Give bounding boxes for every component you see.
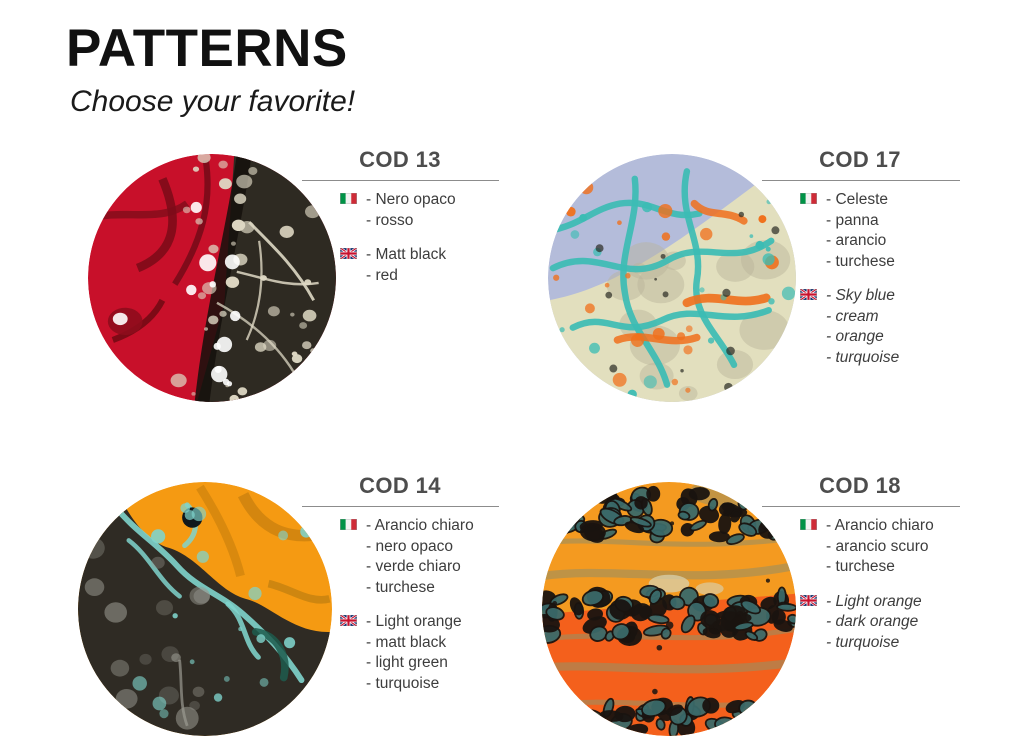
- flag-uk-icon: [800, 595, 817, 606]
- pattern-disc-cod-17[interactable]: [548, 154, 796, 402]
- color-list-english: - Matt black- red: [340, 245, 515, 286]
- color-list-italian: - Arancio chiaro- nero opaco- verde chia…: [340, 516, 515, 598]
- pattern-disc-cod-14[interactable]: [78, 482, 332, 736]
- pattern-disc-cod-13[interactable]: [88, 154, 336, 402]
- color-list-english: - Light orange- matt black- light green-…: [340, 612, 515, 694]
- color-list-group: - Celeste- panna- arancio- turchese- Sky…: [800, 190, 975, 368]
- pattern-code-heading: COD 17: [760, 148, 960, 172]
- color-lines: - Sky blue- cream- orange- turquoise: [826, 286, 975, 368]
- color-line: - verde chiaro: [366, 557, 515, 578]
- color-line: - arancio: [826, 231, 975, 252]
- color-line: - Sky blue: [826, 286, 975, 307]
- color-line: - dark orange: [826, 612, 975, 633]
- color-line: - turchese: [366, 578, 515, 599]
- page-title: PATTERNS: [66, 22, 355, 75]
- heading-divider: [762, 506, 960, 507]
- color-line: - Arancio chiaro: [366, 516, 515, 537]
- pattern-code-heading: COD 13: [300, 148, 500, 172]
- pattern-card[interactable]: COD 18- Arancio chiaro- arancio scuro- t…: [500, 460, 1012, 750]
- page-subtitle: Choose your favorite!: [70, 87, 355, 117]
- color-line: - cream: [826, 307, 975, 328]
- color-line: - Light orange: [826, 592, 975, 613]
- pattern-code-label: COD 18: [819, 473, 901, 498]
- color-list-italian: - Arancio chiaro- arancio scuro- turches…: [800, 516, 975, 578]
- color-line: - turquoise: [826, 348, 975, 369]
- color-line: - arancio scuro: [826, 537, 975, 558]
- color-line: - Matt black: [366, 245, 515, 266]
- color-line: - turquoise: [826, 633, 975, 654]
- color-line: - Light orange: [366, 612, 515, 633]
- pattern-card[interactable]: COD 17- Celeste- panna- arancio- turches…: [500, 148, 1012, 438]
- color-lines: - Arancio chiaro- arancio scuro- turches…: [826, 516, 975, 578]
- pattern-disc-cod-18[interactable]: [542, 482, 796, 736]
- color-lines: - Light orange- dark orange- turquoise: [826, 592, 975, 654]
- color-list-italian: - Celeste- panna- arancio- turchese: [800, 190, 975, 272]
- color-list-english: - Sky blue- cream- orange- turquoise: [800, 286, 975, 368]
- color-line: - nero opaco: [366, 537, 515, 558]
- color-lines: - Arancio chiaro- nero opaco- verde chia…: [366, 516, 515, 598]
- color-line: - Arancio chiaro: [826, 516, 975, 537]
- color-list-group: - Arancio chiaro- nero opaco- verde chia…: [340, 516, 515, 694]
- color-line: - Nero opaco: [366, 190, 515, 211]
- color-list-english: - Light orange- dark orange- turquoise: [800, 592, 975, 654]
- pattern-disc-cod-13-wrapper[interactable]: [88, 154, 336, 402]
- flag-italy-icon: [340, 519, 357, 530]
- page-header: PATTERNS Choose your favorite!: [66, 22, 355, 117]
- pattern-disc-cod-18-wrapper[interactable]: [542, 482, 796, 736]
- pattern-code-label: COD 17: [819, 147, 901, 172]
- color-line: - light green: [366, 653, 515, 674]
- flag-italy-icon: [800, 519, 817, 530]
- flag-uk-icon: [800, 289, 817, 300]
- color-list-group: - Nero opaco- rosso- Matt black- red: [340, 190, 515, 286]
- color-list-group: - Arancio chiaro- arancio scuro- turches…: [800, 516, 975, 653]
- pattern-card[interactable]: COD 14- Arancio chiaro- nero opaco- verd…: [0, 460, 512, 750]
- color-line: - Celeste: [826, 190, 975, 211]
- color-line: - red: [366, 266, 515, 287]
- color-line: - turchese: [826, 557, 975, 578]
- pattern-code-heading: COD 18: [760, 474, 960, 498]
- flag-italy-icon: [340, 193, 357, 204]
- pattern-card[interactable]: COD 13- Nero opaco- rosso- Matt black- r…: [0, 148, 512, 438]
- pattern-disc-cod-14-wrapper[interactable]: [78, 482, 332, 736]
- color-lines: - Matt black- red: [366, 245, 515, 286]
- heading-divider: [302, 506, 499, 507]
- color-lines: - Celeste- panna- arancio- turchese: [826, 190, 975, 272]
- flag-uk-icon: [340, 248, 357, 259]
- flag-uk-icon: [340, 615, 357, 626]
- pattern-disc-cod-17-wrapper[interactable]: [548, 154, 796, 402]
- color-line: - turquoise: [366, 674, 515, 695]
- color-lines: - Light orange- matt black- light green-…: [366, 612, 515, 694]
- flag-italy-icon: [800, 193, 817, 204]
- pattern-code-label: COD 13: [359, 147, 441, 172]
- pattern-code-label: COD 14: [359, 473, 441, 498]
- color-line: - panna: [826, 211, 975, 232]
- color-line: - turchese: [826, 252, 975, 273]
- color-line: - rosso: [366, 211, 515, 232]
- color-list-italian: - Nero opaco- rosso: [340, 190, 515, 231]
- pattern-code-heading: COD 14: [300, 474, 500, 498]
- color-lines: - Nero opaco- rosso: [366, 190, 515, 231]
- heading-divider: [762, 180, 960, 181]
- color-line: - orange: [826, 327, 975, 348]
- color-line: - matt black: [366, 633, 515, 654]
- heading-divider: [302, 180, 499, 181]
